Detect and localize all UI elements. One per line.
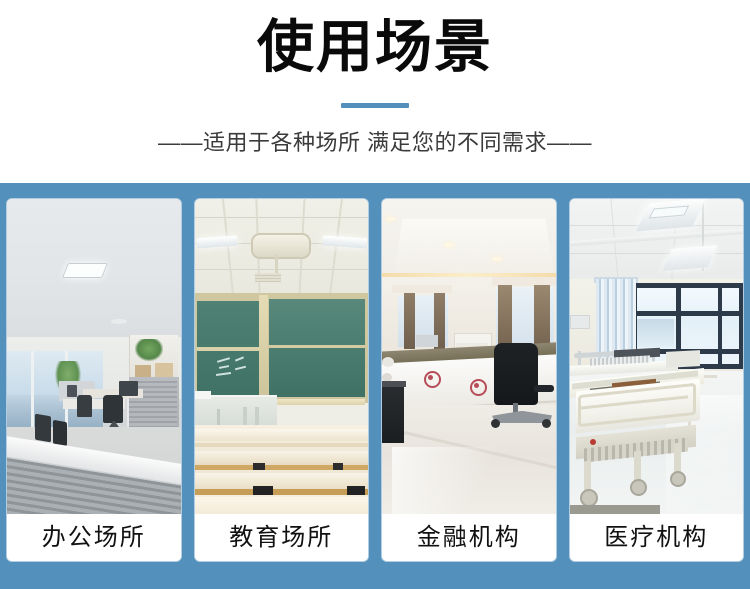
- chalkboard-knob: [261, 347, 266, 352]
- hospital-wall-panel: [570, 315, 590, 329]
- bank-logo-icon: [470, 379, 487, 396]
- page-title: 使用场景: [0, 11, 750, 83]
- scene-card-label-finance: 金融机构: [382, 514, 556, 561]
- chalkboard-right-panel: [269, 299, 365, 397]
- hospital-bed-caster: [670, 471, 686, 487]
- bank-office-chair: [494, 343, 538, 405]
- scene-card-label-medical: 医疗机构: [570, 514, 744, 561]
- scene-card-finance[interactable]: 金融机构: [382, 199, 556, 561]
- ceiling-panel-light-icon: [62, 263, 108, 278]
- bank-downlight-icon: [492, 257, 502, 261]
- scene-card-label-education: 教育场所: [195, 514, 369, 561]
- classroom-photo: [195, 199, 369, 514]
- office-window-mullion: [31, 351, 34, 429]
- bank-downlight-icon: [444, 243, 454, 247]
- office-photo: [7, 199, 181, 514]
- bank-logo-icon: [424, 371, 441, 388]
- scene-cards-band: 办公场所: [0, 183, 750, 589]
- chalkboard-rail: [197, 347, 259, 351]
- scene-cards-row: 办公场所: [7, 199, 743, 561]
- hospital-floor-mat: [570, 505, 660, 514]
- ceiling-tile-seam: [570, 253, 744, 254]
- hospital-bed-leg: [674, 443, 681, 474]
- desk-bracket: [253, 463, 265, 470]
- office-monitor-icon: [67, 385, 77, 397]
- bank-curtain: [498, 285, 512, 351]
- ceiling-projector-icon: [251, 233, 311, 259]
- bank-photo: [382, 199, 556, 514]
- classroom-desk-row: [195, 497, 369, 514]
- classroom-desk-rail: [195, 489, 369, 495]
- bank-logo-icon-center: [474, 383, 479, 388]
- classroom-podium-top: [195, 391, 211, 399]
- bank-office-chair-arm: [534, 385, 554, 392]
- scene-card-medical[interactable]: 医疗机构: [570, 199, 744, 561]
- scene-card-label-office: 办公场所: [7, 514, 181, 561]
- page-root: 使用场景 ——适用于各种场所 满足您的不同需求——: [0, 0, 750, 589]
- office-foreground-chair: [53, 420, 67, 446]
- ceiling-rib: [195, 269, 369, 270]
- classroom-desk-row: [195, 473, 369, 489]
- hospital-bed-release-knob: [590, 439, 596, 445]
- desk-bracket: [253, 486, 273, 495]
- scene-card-education[interactable]: 教育场所: [195, 199, 369, 561]
- bank-chair-caster: [491, 419, 500, 428]
- bank-back-desk: [416, 335, 438, 347]
- desk-bracket: [347, 486, 365, 495]
- bank-curtain: [534, 285, 550, 351]
- hospital-window-mullion: [632, 311, 744, 316]
- page-subtitle: ——适用于各种场所 满足您的不同需求——: [0, 127, 750, 159]
- classroom-stage-rail: [277, 399, 365, 405]
- bank-logo-icon-center: [428, 375, 433, 380]
- hospital-bed-far-frame: [666, 350, 700, 368]
- hospital-second-bed-rail-post: [578, 351, 581, 365]
- classroom-desk-edge: [195, 443, 369, 447]
- office-downlight: [111, 319, 127, 324]
- office-plant-icon: [135, 339, 163, 361]
- office-chair: [103, 395, 123, 423]
- bank-chair-caster: [542, 419, 551, 428]
- hospital-photo: [570, 199, 744, 514]
- classroom-desk-row: [195, 429, 369, 441]
- bank-curtain: [404, 293, 415, 349]
- ceiling-vent-icon: [255, 273, 281, 282]
- ceiling-rib: [195, 217, 369, 218]
- title-divider-rule: [341, 103, 409, 108]
- office-chair: [77, 395, 92, 417]
- hospital-window-mullion: [718, 283, 722, 369]
- chalkboard-rail: [269, 345, 365, 348]
- bank-pedestal-cabinet: [382, 385, 404, 443]
- office-monitor-icon: [119, 381, 138, 396]
- bank-pedestal-top: [382, 381, 406, 387]
- scene-card-office[interactable]: 办公场所: [7, 199, 181, 561]
- office-foreground-chair: [35, 414, 51, 443]
- hospital-bed-caster: [630, 479, 647, 496]
- desk-bracket: [333, 463, 343, 470]
- bank-security-camera-icon: [382, 357, 394, 367]
- bank-floor-reflection: [392, 447, 542, 514]
- bank-downlight-icon: [386, 217, 395, 221]
- page-header: 使用场景 ——适用于各种场所 满足您的不同需求——: [0, 0, 750, 183]
- bank-ceiling-cove: [394, 219, 554, 276]
- bank-curtain-valance: [392, 285, 452, 293]
